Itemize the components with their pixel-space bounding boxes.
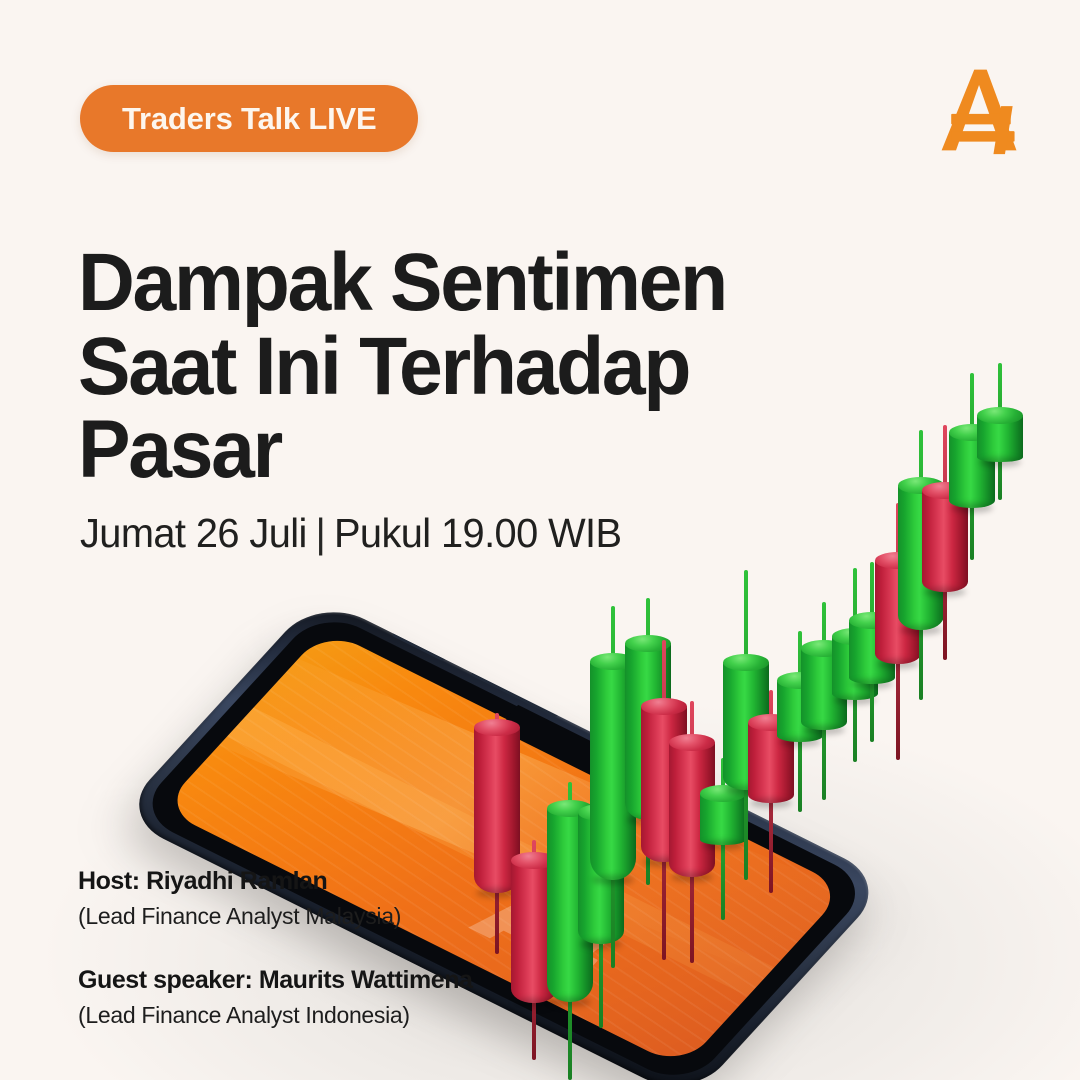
candle-body-cap [977, 407, 1024, 424]
candle-body-base-shadow [979, 457, 1021, 467]
candle-wick [970, 373, 974, 560]
credit-name: Guest speaker: Maurits Wattimena [78, 965, 598, 997]
candle-body-side [977, 415, 1023, 462]
credit-role: (Lead Finance Analyst Indonesia) [78, 1001, 598, 1031]
credits: Host: Riyadhi Ramlan(Lead Finance Analys… [78, 866, 598, 1031]
candle-wick [998, 363, 1002, 500]
candle-body-cap [949, 424, 996, 441]
credit-block: Guest speaker: Maurits Wattimena(Lead Fi… [78, 965, 598, 1030]
a-logo-icon [932, 62, 1028, 158]
headline-line-3: Pasar [78, 408, 808, 492]
candle-body-cap [898, 477, 945, 494]
candle-body [977, 415, 1023, 462]
candle-body-base-shadow [951, 503, 993, 513]
candle-body-cap [875, 552, 922, 569]
event-date: Jumat 26 Juli [80, 510, 307, 556]
traders-talk-live-badge[interactable]: Traders Talk LIVE [80, 85, 418, 152]
candlestick-up [949, 373, 995, 560]
candle-body-cap [922, 482, 969, 499]
datetime-separator: | [307, 510, 334, 557]
brand-logo[interactable] [932, 62, 1028, 158]
candle-body-side [922, 490, 968, 592]
candle-body [949, 432, 995, 508]
poster-canvas: Traders Talk LIVE Dampak Sentimen Saat I… [0, 0, 1080, 1080]
credit-role: (Lead Finance Analyst Malaysia) [78, 902, 598, 932]
headline-line-1: Dampak Sentimen [78, 241, 808, 325]
candle-body-side [949, 432, 995, 508]
credit-name: Host: Riyadhi Ramlan [78, 866, 598, 898]
event-time: Pukul 19.00 WIB [334, 510, 621, 556]
credit-block: Host: Riyadhi Ramlan(Lead Finance Analys… [78, 866, 598, 931]
candlestick-up [977, 363, 1023, 500]
page-title: Dampak Sentimen Saat Ini Terhadap Pasar [78, 241, 808, 492]
event-datetime: Jumat 26 Juli|Pukul 19.00 WIB [80, 510, 621, 557]
badge-label: Traders Talk LIVE [122, 101, 376, 137]
candle-body [922, 490, 968, 592]
headline-line-2: Saat Ini Terhadap [78, 325, 808, 409]
